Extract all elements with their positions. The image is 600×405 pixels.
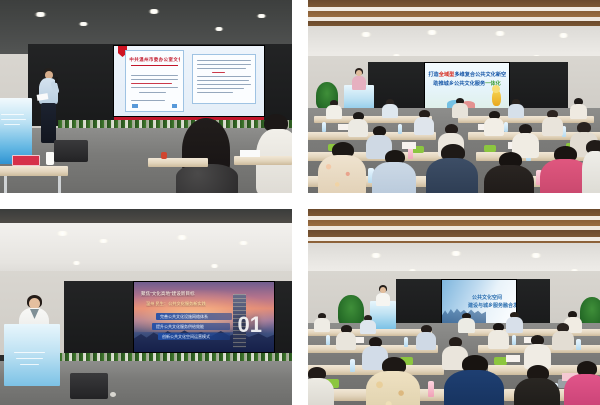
photo-bottom-right[interactable]: 公共文化空间 建设与城乡服务融合发展 [308, 209, 600, 405]
doc-line [139, 92, 166, 93]
name-card [506, 355, 520, 362]
desk-leg [58, 176, 61, 193]
downlight-icon [98, 239, 109, 243]
name-card [402, 142, 416, 149]
downlight-icon [450, 251, 462, 256]
wooden-ceiling [308, 0, 600, 28]
led-wall: 01 聚焦“文化高地”建设新目标 温州 民生：公共文化服务新实践 完善公共文化设… [134, 282, 274, 352]
torso [484, 118, 504, 136]
scene-bottom-right: 公共文化空间 建设与城乡服务融合发展 [308, 209, 600, 405]
slide-city: 01 聚焦“文化高地”建设新目标 温州 民生：公共文化服务新实践 完善公共文化设… [134, 282, 274, 352]
torso [382, 104, 398, 118]
attendee-desk [234, 156, 292, 165]
legs [41, 103, 56, 143]
water-bottle [322, 122, 326, 132]
torso [444, 370, 504, 405]
downlight-icon [148, 9, 160, 14]
attendee [360, 315, 376, 333]
attendee [314, 313, 330, 331]
podium-line [16, 358, 43, 359]
torso [314, 318, 330, 332]
torso [318, 155, 366, 193]
attendee [258, 114, 292, 193]
dark-wall-panel [272, 281, 292, 353]
torso [360, 320, 376, 334]
downlight-icon [56, 231, 69, 236]
doc-line [212, 72, 226, 73]
presenter [374, 285, 392, 305]
torso [326, 105, 342, 119]
pen-icon [161, 152, 167, 159]
doc-card-right [192, 54, 256, 104]
wooden-ceiling [308, 209, 600, 245]
water-bottle [404, 337, 408, 347]
attendee [458, 313, 475, 332]
attendee [452, 98, 468, 117]
doc-line [197, 60, 252, 61]
torso [564, 374, 600, 405]
water-bottle [350, 359, 355, 372]
doc-line [197, 64, 252, 65]
slide-subheading: 温州 民生：公共文化服务新实践 [146, 301, 206, 307]
torso [552, 331, 574, 350]
chapter-number: 01 [238, 314, 262, 336]
slide-title: 中共温州市委办公室文件 [129, 57, 179, 63]
nameplate [12, 155, 40, 166]
torso [514, 378, 560, 405]
torso [484, 165, 534, 193]
slide-seg-blue: 多维复合公共文化新空间 [454, 72, 505, 78]
doc-line [131, 100, 165, 101]
scene-top-right: 打造全域型多维复合公共文化新空间 助推城乡公共文化服务一体化 [308, 0, 600, 193]
floor-monitor-speaker [70, 373, 108, 399]
torso [452, 103, 468, 118]
water-bottle [576, 339, 581, 350]
downlight-icon [370, 253, 382, 258]
water-bottle [326, 335, 330, 345]
projection-screen: 公共文化空间 建设与城乡服务融合发展 [442, 280, 516, 324]
attendee [524, 335, 551, 368]
torso [352, 76, 366, 90]
slide-document: 中共温州市委办公室文件 [114, 46, 264, 116]
water-bottle [398, 124, 402, 134]
torso [488, 330, 509, 349]
water-bottle [428, 381, 434, 397]
microphone-icon [55, 77, 58, 83]
torso [414, 117, 434, 135]
attendee [570, 98, 587, 118]
downlight-icon [558, 33, 569, 38]
notebook [240, 150, 260, 157]
photo-collage-grid: 中共温州市委办公室文件 [0, 0, 600, 405]
attendee [582, 140, 600, 193]
torso [416, 332, 436, 350]
scene-bottom-left: 01 聚焦“文化高地”建设新目标 温州 民生：公共文化服务新实践 完善公共文化设… [0, 209, 292, 405]
attendee [426, 144, 478, 193]
attendee [382, 99, 398, 117]
attendee [326, 100, 342, 118]
doc-line [197, 68, 247, 69]
doc-line [131, 75, 179, 76]
slide-seg-blue: 助推城乡公共文化服务 [433, 81, 485, 87]
doc-line [197, 88, 244, 89]
scene-top-left: 中共温州市委办公室文件 [0, 0, 292, 193]
torso [372, 162, 416, 193]
attendee [488, 323, 509, 348]
torso [542, 117, 563, 136]
slide-seg-red: 全域型 [439, 72, 455, 78]
dark-wall-panel [396, 279, 444, 327]
attendee [416, 325, 436, 349]
doc-line [197, 76, 252, 77]
attendee [176, 118, 238, 193]
chair [484, 145, 496, 152]
attendee [542, 110, 563, 135]
attendee [552, 323, 574, 349]
banner-line [1, 114, 24, 115]
doc-seal-icon [132, 104, 138, 108]
attendee [348, 112, 368, 136]
downlight-icon [426, 30, 438, 35]
attendee [508, 99, 524, 117]
attendee [514, 365, 560, 405]
doc-line [197, 84, 252, 85]
torso [176, 164, 238, 193]
torso [366, 371, 420, 405]
downlight-icon [78, 22, 89, 26]
dark-wall-panel [64, 281, 134, 353]
projection-screen: 中共温州市委办公室文件 [114, 46, 264, 116]
cable-end-icon [110, 392, 116, 397]
photo-bottom-left[interactable]: 01 聚焦“文化高地”建设新目标 温州 民生：公共文化服务新实践 完善公共文化设… [0, 209, 292, 405]
mascot-head-icon [492, 85, 500, 93]
torso [458, 318, 475, 333]
slide-bullet-bar: 创新公共文化空间运营模式 [158, 333, 230, 340]
attendee [366, 357, 420, 405]
downlight-icon [176, 235, 188, 240]
downlight-icon [494, 31, 506, 36]
torso [348, 119, 368, 137]
attendee [318, 142, 366, 193]
downlight-icon [530, 253, 542, 258]
podium [4, 324, 60, 386]
torso [336, 332, 356, 350]
doc-line [131, 87, 179, 88]
banner-line [4, 124, 21, 125]
torso [426, 158, 478, 193]
front-desk [0, 166, 68, 176]
attendee [564, 361, 600, 405]
attendee [372, 150, 416, 193]
doc-card-left: 中共温州市委办公室文件 [125, 50, 184, 112]
attendee [484, 111, 504, 135]
photo-top-right[interactable]: 打造全域型多维复合公共文化新空间 助推城乡公共文化服务一体化 [308, 0, 600, 193]
floor-monitor-speaker [54, 140, 88, 162]
attendee [308, 367, 334, 405]
doc-line [131, 79, 179, 80]
downlight-icon [256, 14, 267, 18]
torso [376, 293, 390, 306]
title-rule [131, 65, 179, 66]
downlight-icon [72, 261, 81, 265]
slide-bullet-bar: 提升公共文化服务供给效能 [152, 323, 230, 330]
banner-line [1, 119, 26, 120]
downlight-icon [214, 27, 224, 31]
attendee [414, 110, 434, 134]
paper-cup [46, 152, 54, 165]
presenter [350, 68, 368, 90]
attendee [444, 355, 504, 405]
downlight-icon [238, 241, 249, 245]
downlight-icon [360, 32, 372, 37]
slide-bullet-bar: 完善公共文化设施网络体系 [156, 313, 232, 320]
slide-pale-title: 公共文化空间 建设与城乡服务融合发展 [442, 280, 516, 324]
torso [508, 104, 524, 118]
downlight-icon [210, 264, 219, 268]
podium-line [20, 364, 39, 365]
presenter [36, 68, 62, 146]
attendee [484, 152, 534, 193]
attendee [336, 325, 356, 349]
doc-line [197, 92, 233, 93]
doc-line [197, 80, 249, 81]
doc-line [131, 83, 172, 84]
desk-leg [4, 176, 7, 193]
downlight-icon [34, 12, 47, 17]
slide-heading: 聚焦“文化高地”建设新目标 [141, 291, 195, 297]
slide-line-1: 打造全域型多维复合公共文化新空间 [428, 71, 505, 78]
doc-seal-icon [172, 104, 177, 108]
torso [570, 104, 587, 119]
water-bottle [512, 335, 516, 345]
attendee-desk [148, 158, 208, 167]
slide-seg-blue: 打造 [428, 72, 438, 78]
photo-top-left[interactable]: 中共温州市委办公室文件 [0, 0, 292, 193]
torso [308, 378, 334, 405]
slide-line-1: 公共文化空间 [472, 294, 502, 301]
water-bottle [504, 122, 508, 132]
torso [582, 151, 600, 193]
slide-line-2: 建设与城乡服务融合发展 [468, 302, 516, 309]
podium-line [14, 352, 45, 353]
